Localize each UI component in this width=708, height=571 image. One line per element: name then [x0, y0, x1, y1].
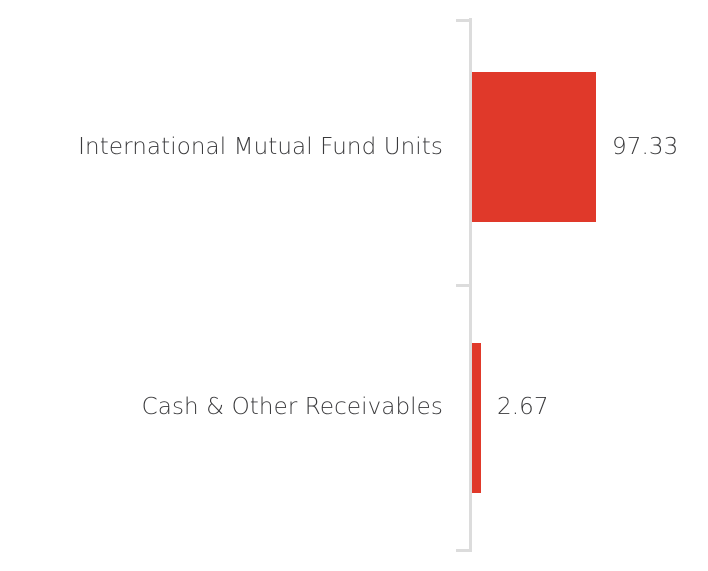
category-label: International Mutual Fund Units [23, 136, 443, 159]
axis-tick-top [456, 19, 469, 22]
bar-segment[interactable] [472, 343, 481, 493]
axis-tick-bottom [456, 549, 469, 552]
bar-segment[interactable] [472, 72, 596, 222]
value-label: 97.33 [612, 136, 678, 159]
category-label: Cash & Other Receivables [23, 396, 443, 419]
bar-chart: International Mutual Fund Units 97.33 Ca… [0, 0, 708, 571]
value-label: 2.67 [497, 396, 549, 419]
axis-tick-middle [456, 284, 469, 287]
